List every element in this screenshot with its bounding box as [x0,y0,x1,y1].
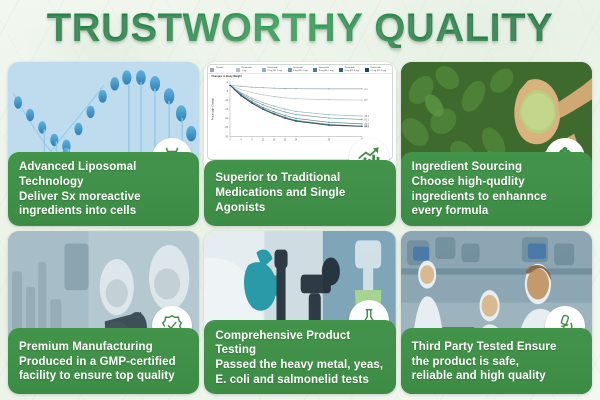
svg-text:-30: -30 [225,136,229,138]
legend-swatch [210,68,214,72]
chart-legend: Placebo Retatrutide 1 mg Retatrutide 4 m… [208,65,391,74]
legend-label: Retatrutide 1 mg [242,67,252,72]
card-description: Advanced Liposomal Technology Deliver Sx… [19,160,189,219]
feature-card-grid: Advanced Liposomal Technology Deliver Sx… [8,62,592,394]
svg-text:36: 36 [328,140,331,142]
legend-label: Retatrutide 8 mg (ED 4 mg) [345,67,360,72]
legend-swatch [365,68,369,72]
legend-label: Retatrutide 8 mg (ED 2 mg) [319,67,334,72]
feature-card-superior-to-traditional-medications[interactable]: Placebo Retatrutide 1 mg Retatrutide 4 m… [204,62,395,226]
legend-item: Placebo [210,67,235,72]
svg-text:-5: -5 [226,91,229,93]
svg-text:16: 16 [273,140,276,142]
feature-card-third-party-tested[interactable]: Third Party Tested Ensure the product is… [401,231,592,395]
svg-text:Percentage Change: Percentage Change [212,97,215,120]
feature-card-advanced-liposomal-technology[interactable]: Advanced Liposomal Technology Deliver Sx… [8,62,199,226]
card-text-panel: Superior to Traditional Medications and … [204,160,395,226]
legend-label: Retatrutide 4 mg (ED 4 mg) [293,67,308,72]
svg-text:-24.2: -24.2 [364,127,370,129]
legend-label: Retatrutide 4 mg (ED 2 mg) [267,67,282,72]
card-text-panel: Premium Manufacturing Produced in a GMP-… [8,328,199,394]
chart-svg: 0-5-10-15-20-25-30048121620243648Percent… [208,78,391,146]
legend-item: Retatrutide 8 mg (ED 2 mg) [313,67,338,72]
svg-text:-18.1: -18.1 [364,116,370,118]
svg-text:-2.1: -2.1 [364,89,368,91]
card-description: Superior to Traditional Medications and … [215,171,385,215]
legend-swatch [339,68,343,72]
legend-swatch [262,68,266,72]
chart-plot-area: 0-5-10-15-20-25-30048121620243648Percent… [208,78,391,146]
svg-text:-10: -10 [225,100,229,102]
svg-text:4: 4 [241,140,243,142]
feature-card-premium-manufacturing[interactable]: Premium Manufacturing Produced in a GMP-… [8,231,199,395]
svg-text:8: 8 [252,140,254,142]
svg-text:-8.7: -8.7 [364,100,368,102]
card-text-panel: Comprehensive Product Testing Passed the… [204,320,395,394]
legend-item: Retatrutide 8 mg (ED 4 mg) [339,67,364,72]
legend-item: Retatrutide 4 mg (ED 4 mg) [288,67,313,72]
card-description: Ingredient Sourcing Choose high-qudlity … [412,160,582,219]
svg-text:0: 0 [227,82,229,84]
svg-text:12: 12 [262,140,265,142]
feature-card-comprehensive-product-testing[interactable]: Comprehensive Product Testing Passed the… [204,231,395,395]
legend-swatch [313,68,317,72]
card-description: Third Party Tested Ensure the product is… [412,340,582,384]
card-description: Premium Manufacturing Produced in a GMP-… [19,340,189,384]
svg-text:-15: -15 [225,109,229,111]
legend-item: Retatrutide 12 mg (ED 2 mg) [365,67,390,72]
svg-text:-20.1: -20.1 [364,120,370,122]
page-title-wrapper: TRUSTWORTHY QUALITY [0,8,600,48]
legend-swatch [288,68,292,72]
card-text-panel: Ingredient Sourcing Choose high-qudlity … [401,152,592,226]
legend-label: Placebo [216,67,224,70]
svg-text:-20: -20 [225,118,229,120]
svg-text:-25: -25 [225,127,229,129]
legend-swatch [236,68,240,72]
svg-text:20: 20 [284,140,287,142]
svg-text:24: 24 [295,140,298,142]
card-text-panel: Advanced Liposomal Technology Deliver Sx… [8,152,199,226]
feature-card-ingredient-sourcing[interactable]: Ingredient Sourcing Choose high-qudlity … [401,62,592,226]
legend-item: Retatrutide 1 mg [236,67,261,72]
page-title: TRUSTWORTHY QUALITY [0,8,600,48]
card-description: Comprehensive Product Testing Passed the… [215,329,385,388]
legend-label: Retatrutide 12 mg (ED 2 mg) [370,67,386,72]
card-text-panel: Third Party Tested Ensure the product is… [401,328,592,394]
svg-text:0: 0 [230,140,232,142]
legend-item: Retatrutide 4 mg (ED 2 mg) [262,67,287,72]
